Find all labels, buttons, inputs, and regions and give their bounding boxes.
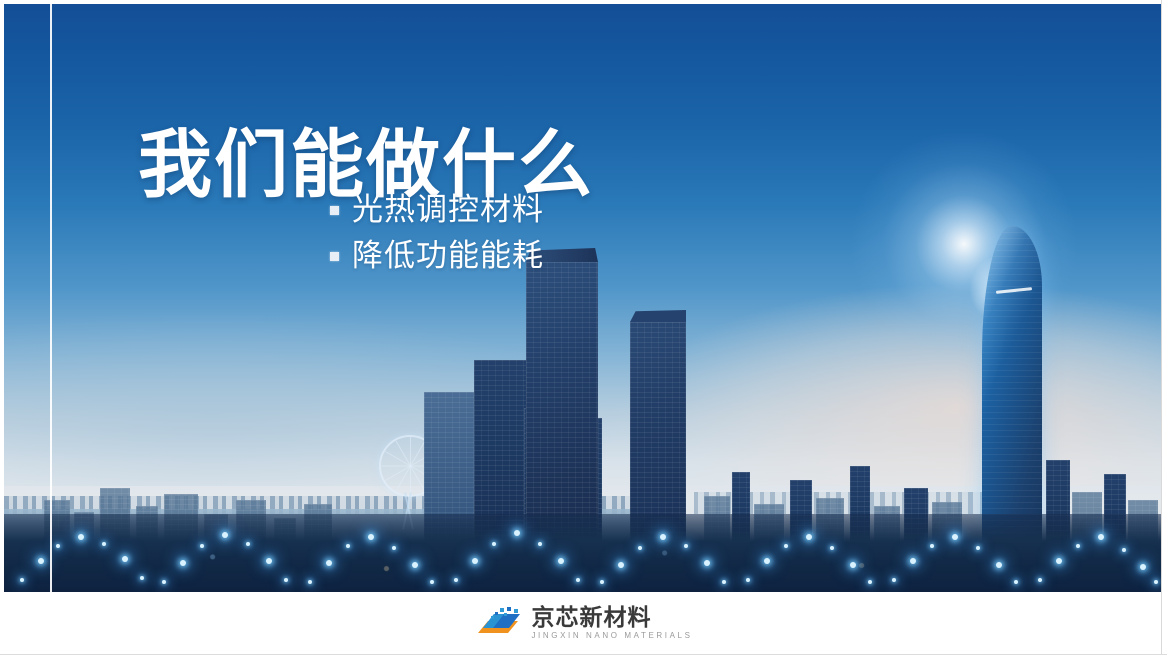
logo-name-cn: 京芯新材料 — [531, 606, 692, 629]
list-item-label: 降低功能能耗 — [352, 239, 544, 274]
page-border-bottom — [0, 654, 1167, 661]
logo-text-block: 京芯新材料 JINGXIN NANO MATERIALS — [531, 606, 692, 641]
jingxin-logo-mark-icon — [474, 606, 522, 642]
sun-glare-icon — [849, 129, 1079, 359]
page-title: 我们能做什么 — [138, 128, 594, 202]
square-bullet-icon — [330, 252, 339, 261]
bullet-list: 光热调控材料 降低功能能耗 — [330, 193, 544, 284]
square-bullet-icon — [330, 206, 339, 215]
curved-skyscraper — [982, 226, 1042, 544]
list-item: 光热调控材料 — [330, 193, 544, 228]
page-border-right — [1161, 0, 1167, 661]
list-item: 降低功能能耗 — [330, 239, 544, 274]
page-border-top — [0, 0, 1167, 4]
logo-name-en: JINGXIN NANO MATERIALS — [531, 631, 692, 641]
network-node-overlay — [4, 506, 1163, 592]
list-item-label: 光热调控材料 — [352, 193, 544, 228]
hero-background-image — [4, 4, 1163, 592]
presentation-slide: 我们能做什么 光热调控材料 降低功能能耗 — [0, 0, 1167, 661]
company-logo: 京芯新材料 JINGXIN NANO MATERIALS — [474, 606, 692, 642]
slide-footer: 京芯新材料 JINGXIN NANO MATERIALS — [4, 592, 1163, 655]
page-border-left — [0, 0, 4, 661]
vertical-accent-rule — [50, 4, 52, 592]
building-crown — [630, 310, 686, 322]
